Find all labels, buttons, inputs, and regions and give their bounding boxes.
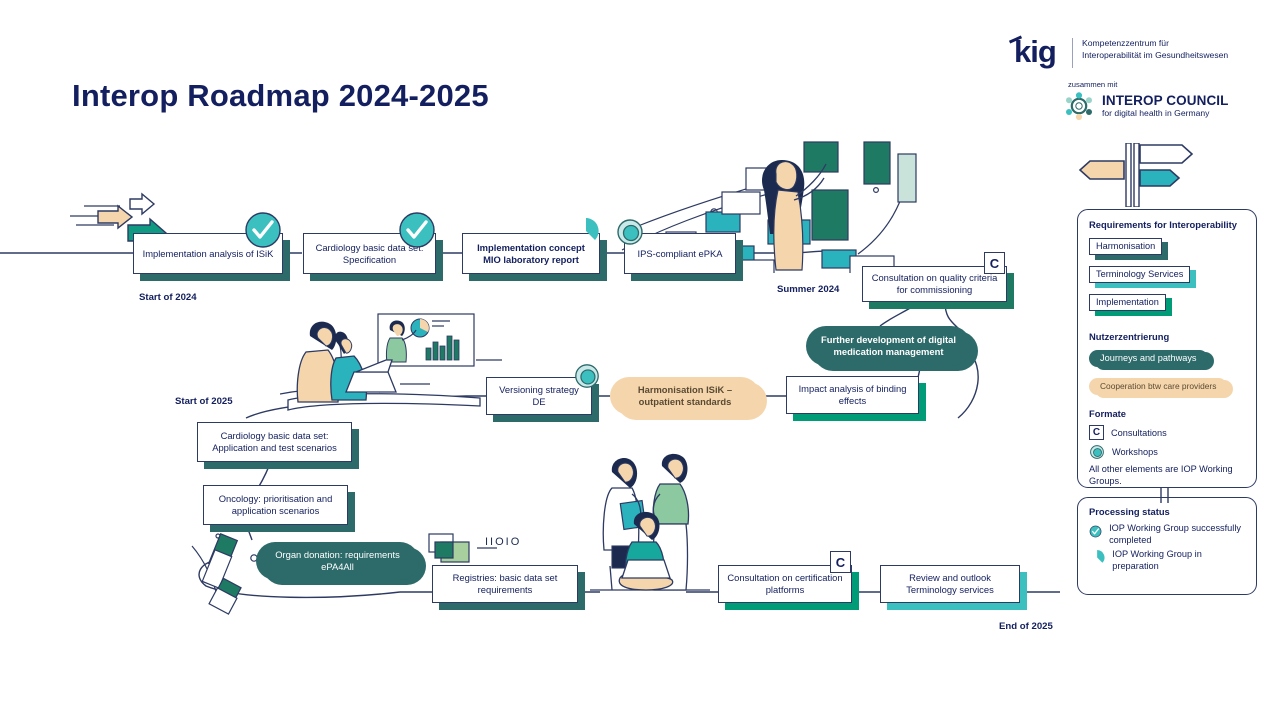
pie-quarter-icon xyxy=(572,217,600,245)
chip-label: Terminology Services xyxy=(1089,266,1190,283)
chip-label: Harmonisation xyxy=(1089,238,1162,255)
node-label: Impact analysis of binding effects xyxy=(786,376,919,414)
status-item-in-preparation: IOP Working Group in preparation xyxy=(1089,549,1245,572)
node-consultation-quality-criteria[interactable]: Consultation on quality criteria for com… xyxy=(862,266,1007,302)
node-cardiology-specification[interactable]: Cardiology basic data set: Specification xyxy=(303,233,436,274)
consultation-badge-icon: C xyxy=(1089,425,1104,440)
node-label: Review and outlook Terminology services xyxy=(880,565,1020,603)
legend-formate-heading: Formate xyxy=(1089,408,1245,419)
check-circle-icon xyxy=(243,210,283,250)
legend-chip-terminology-services: Terminology Services xyxy=(1089,264,1190,282)
check-circle-icon xyxy=(397,210,437,250)
legend-note: All other elements are IOP Working Group… xyxy=(1089,464,1245,487)
legend-panel: Requirements for Interoperability Harmon… xyxy=(1077,209,1257,488)
node-cardiology-application-test[interactable]: Cardiology basic data set: Application a… xyxy=(197,422,352,462)
node-versioning-strategy-de[interactable]: Versioning strategy DE xyxy=(486,377,592,415)
status-heading: Processing status xyxy=(1089,506,1245,517)
node-digital-medication-management[interactable]: Further development of digital medicatio… xyxy=(806,326,971,366)
pill-label: Journeys and pathways xyxy=(1089,350,1208,367)
node-impact-analysis-binding-effects[interactable]: Impact analysis of binding effects xyxy=(786,376,919,414)
pill-label: Cooperation btw care providers xyxy=(1089,378,1227,395)
node-label: Registries: basic data set requirements xyxy=(432,565,578,603)
node-mio-laboratory-report[interactable]: Implementation concept MIO laboratory re… xyxy=(462,233,600,274)
legend-format-workshops-label: Workshops xyxy=(1112,447,1158,457)
consultation-badge-icon: C xyxy=(984,252,1005,274)
node-oncology-prioritisation[interactable]: Oncology: prioritisation and application… xyxy=(203,485,348,525)
legend-nutzerzentrierung-heading: Nutzerzentrierung xyxy=(1089,331,1245,342)
consultation-badge-icon: C xyxy=(830,551,851,573)
node-implementation-analysis-isik[interactable]: Implementation analysis of ISiK xyxy=(133,233,283,274)
legend-pill-journeys-and-pathways: Journeys and pathways xyxy=(1089,348,1208,366)
pie-quarter-icon xyxy=(1089,549,1105,566)
legend-pill-cooperation-care-providers: Cooperation btw care providers xyxy=(1089,376,1227,394)
legend-chip-implementation: Implementation xyxy=(1089,292,1166,310)
legend-format-workshops: Workshops xyxy=(1089,444,1245,460)
node-ips-compliant-epka[interactable]: IPS-compliant ePKA xyxy=(624,233,736,274)
legend-chip-harmonisation: Harmonisation xyxy=(1089,236,1162,254)
panel-connector xyxy=(1155,487,1175,503)
node-consultation-certification-platforms[interactable]: Consultation on certification platforms … xyxy=(718,565,852,603)
processing-status-panel: Processing status IOP Working Group succ… xyxy=(1077,497,1257,595)
node-label: Harmonisation ISiK – outpatient standard… xyxy=(610,377,760,415)
legend-format-consultations-label: Consultations xyxy=(1111,428,1167,438)
chip-label: Implementation xyxy=(1089,294,1166,311)
status-item-label: IOP Working Group in preparation xyxy=(1112,549,1245,572)
workshop-icon xyxy=(615,217,645,247)
node-label: Further development of digital medicatio… xyxy=(806,326,971,366)
node-registries-basic-data-set[interactable]: Registries: basic data set requirements xyxy=(432,565,578,603)
check-circle-icon xyxy=(1089,523,1102,540)
node-review-outlook-terminology[interactable]: Review and outlook Terminology services xyxy=(880,565,1020,603)
legend-format-consultations: C Consultations xyxy=(1089,425,1245,440)
workshop-icon xyxy=(573,362,601,390)
status-item-completed: IOP Working Group successfully completed xyxy=(1089,523,1245,546)
node-organ-donation-epa4all[interactable]: Organ donation: requirements ePA4All xyxy=(256,542,419,580)
node-label: Organ donation: requirements ePA4All xyxy=(256,542,419,580)
node-label: Oncology: prioritisation and application… xyxy=(203,485,348,525)
node-harmonisation-isik-outpatient[interactable]: Harmonisation ISiK – outpatient standard… xyxy=(610,377,760,415)
status-item-label: IOP Working Group successfully completed xyxy=(1109,523,1245,546)
node-label: Cardiology basic data set: Application a… xyxy=(197,422,352,462)
workshop-icon xyxy=(1089,444,1105,460)
